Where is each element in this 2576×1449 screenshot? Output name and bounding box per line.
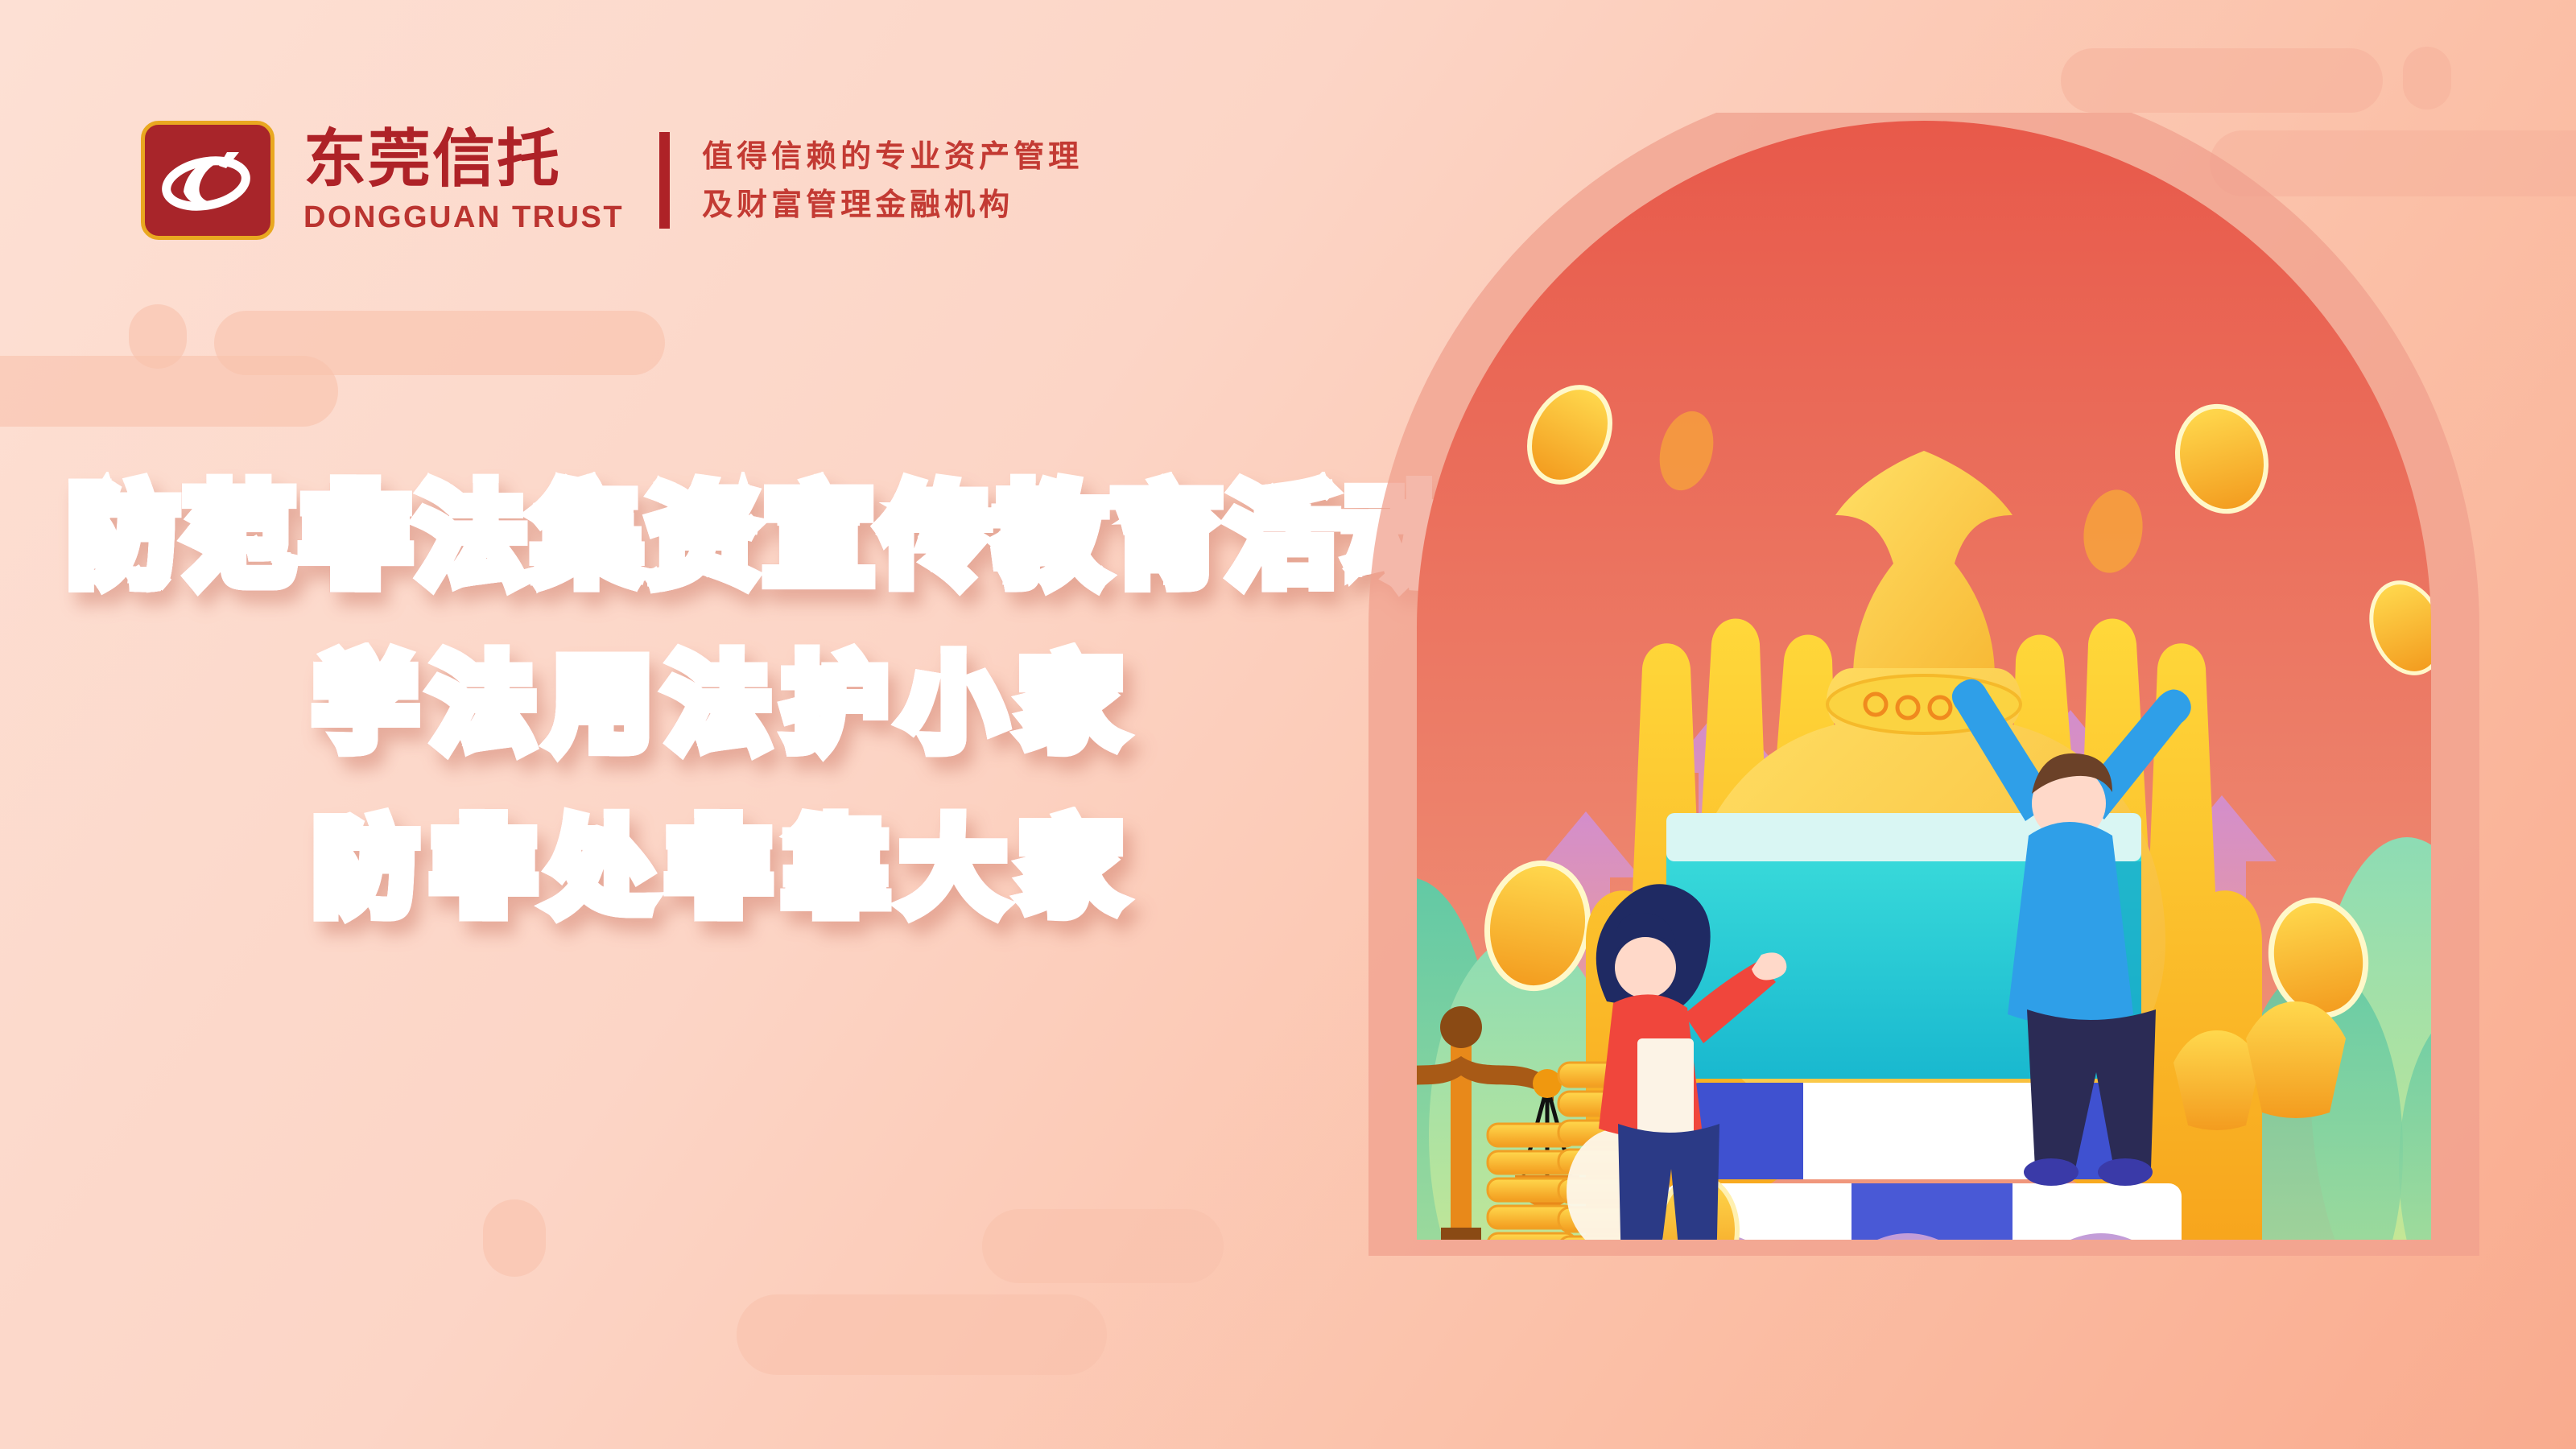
brand-header: 东莞信托 DONGGUAN TRUST 值得信赖的专业资产管理 及财富管理金融机…: [141, 121, 1083, 240]
headline-line-1: 防范非法集资宣传教育活动: [68, 483, 1368, 592]
promotional-banner: 东莞信托 DONGGUAN TRUST 值得信赖的专业资产管理 及财富管理金融机…: [0, 0, 2576, 1449]
bg-deco-pill: [2061, 48, 2383, 113]
finance-illustration: ¥: [1320, 113, 2528, 1336]
headline-line-2: 学法用法护小家: [314, 654, 1368, 757]
bg-deco-pill: [737, 1294, 1107, 1375]
brand-name-en: DONGGUAN TRUST: [303, 202, 624, 233]
headline-line-3: 防非处非靠大家: [314, 818, 1368, 921]
bg-deco-pill: [2403, 47, 2451, 109]
tagline-line-2: 及财富管理金融机构: [702, 189, 1083, 220]
brand-name-cn: 东莞信托: [303, 128, 624, 191]
tagline-line-1: 值得信赖的专业资产管理: [702, 141, 1083, 171]
bg-deco-pill: [982, 1209, 1224, 1283]
bg-deco-pill: [0, 356, 338, 427]
headline-group: 防范非法集资宣传教育活动 学法用法护小家 防非处非靠大家: [0, 483, 1368, 921]
bg-deco-pill: [483, 1199, 546, 1277]
brand-tagline: 值得信赖的专业资产管理 及财富管理金融机构: [702, 141, 1083, 220]
brand-names: 东莞信托 DONGGUAN TRUST: [303, 128, 624, 233]
brand-divider: [659, 132, 670, 229]
dongguan-trust-swirl-logo-icon: [141, 121, 275, 240]
